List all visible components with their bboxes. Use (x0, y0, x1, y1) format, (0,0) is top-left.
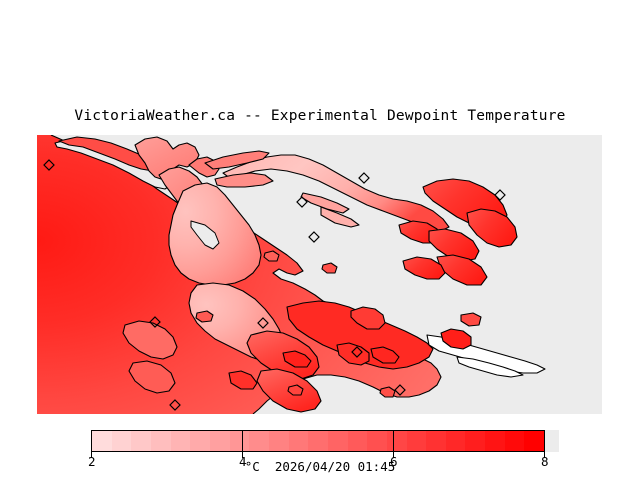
colorbar-swatch-3 (151, 431, 171, 451)
colorbar-swatch-22 (524, 431, 544, 451)
colorbar-swatch-13 (348, 431, 368, 451)
colorbar-swatch-7 (230, 431, 250, 451)
map-svg (37, 135, 602, 414)
colorbar-swatch-17 (426, 431, 446, 451)
colorbar-strip[interactable] (91, 430, 545, 452)
colorbar-swatch-19 (465, 431, 485, 451)
colorbar-swatch-10 (289, 431, 309, 451)
colorbar[interactable] (91, 430, 545, 452)
land-islet-small-b (196, 311, 213, 322)
map-canvas[interactable] (37, 135, 602, 414)
colorbar-swatch-0 (92, 431, 112, 451)
colorbar-swatch-15 (387, 431, 407, 451)
colorbar-swatch-20 (485, 431, 505, 451)
colorbar-swatch-2 (131, 431, 151, 451)
colorbar-swatch-21 (505, 431, 525, 451)
colorbar-swatch-18 (446, 431, 466, 451)
colorbar-swatch-9 (269, 431, 289, 451)
colorbar-swatch-16 (407, 431, 427, 451)
colorbar-swatch-1 (112, 431, 132, 451)
colorbar-swatch-11 (308, 431, 328, 451)
colorbar-swatch-6 (210, 431, 230, 451)
colorbar-tail (545, 430, 559, 452)
colorbar-swatch-12 (328, 431, 348, 451)
colorbar-swatch-8 (249, 431, 269, 451)
colorbar-swatch-5 (190, 431, 210, 451)
colorbar-swatch-4 (171, 431, 191, 451)
page-title: VictoriaWeather.ca -- Experimental Dewpo… (0, 108, 640, 124)
colorbar-units-timestamp: °C 2026/04/20 01:45 (0, 459, 640, 474)
colorbar-swatch-14 (367, 431, 387, 451)
